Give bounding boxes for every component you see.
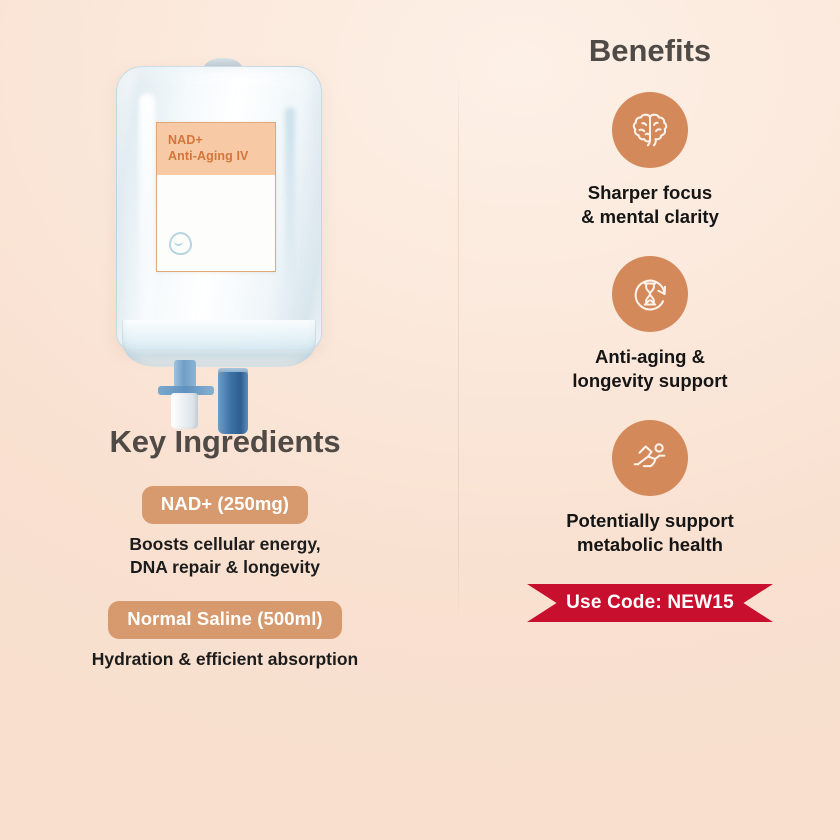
right-column: Benefits <box>460 0 840 840</box>
list-item: Sharper focus & mental clarity <box>460 92 840 229</box>
iv-bag-base <box>122 320 316 367</box>
benefit-list: Sharper focus & mental clarity Anti-agi <box>460 92 840 557</box>
hourglass-refresh-icon <box>612 256 688 332</box>
iv-bag-label-header: NAD+ Anti-Aging IV <box>157 123 275 175</box>
benefits-title: Benefits <box>460 0 840 69</box>
iv-bag-icon: NAD+ Anti-Aging IV <box>108 52 338 412</box>
benefit-text: Sharper focus & mental clarity <box>500 181 800 229</box>
key-ingredients-section: Key Ingredients NAD+ (250mg) Boosts cell… <box>0 424 450 671</box>
brain-icon <box>612 92 688 168</box>
column-divider <box>458 70 459 630</box>
ingredient-name-badge: Normal Saline (500ml) <box>108 601 341 639</box>
iv-bag-label-line1: NAD+ <box>168 132 275 148</box>
ingredient-description: Hydration & efficient absorption <box>55 648 395 671</box>
list-item: Potentially support metabolic health <box>460 420 840 557</box>
running-person-icon <box>612 420 688 496</box>
benefit-text: Anti-aging & longevity support <box>500 345 800 393</box>
list-item: Normal Saline (500ml) Hydration & effici… <box>0 601 450 671</box>
ingredient-name-badge: NAD+ (250mg) <box>142 486 308 524</box>
product-card: NAD+ Anti-Aging IV Key Ingredients NAD+ … <box>0 0 840 840</box>
promo-ribbon-wrap: Use Code: NEW15 <box>460 584 840 622</box>
promo-code-banner[interactable]: Use Code: NEW15 <box>527 584 773 622</box>
left-column: NAD+ Anti-Aging IV Key Ingredients NAD+ … <box>0 0 450 840</box>
benefit-text: Potentially support metabolic health <box>500 509 800 557</box>
iv-bag-label: NAD+ Anti-Aging IV <box>156 122 276 272</box>
promo-code-label: Use Code: NEW15 <box>566 592 734 614</box>
ingredient-list: NAD+ (250mg) Boosts cellular energy, DNA… <box>0 486 450 671</box>
iv-bag-highlight-left <box>139 93 155 331</box>
iv-bag-highlight-right <box>285 107 295 307</box>
list-item: Anti-aging & longevity support <box>460 256 840 393</box>
list-item: NAD+ (250mg) Boosts cellular energy, DNA… <box>0 486 450 579</box>
iv-bag-label-line2: Anti-Aging IV <box>168 148 275 164</box>
smile-logo-icon <box>169 232 192 255</box>
key-ingredients-title: Key Ingredients <box>0 424 450 460</box>
ingredient-description: Boosts cellular energy, DNA repair & lon… <box>55 533 395 579</box>
